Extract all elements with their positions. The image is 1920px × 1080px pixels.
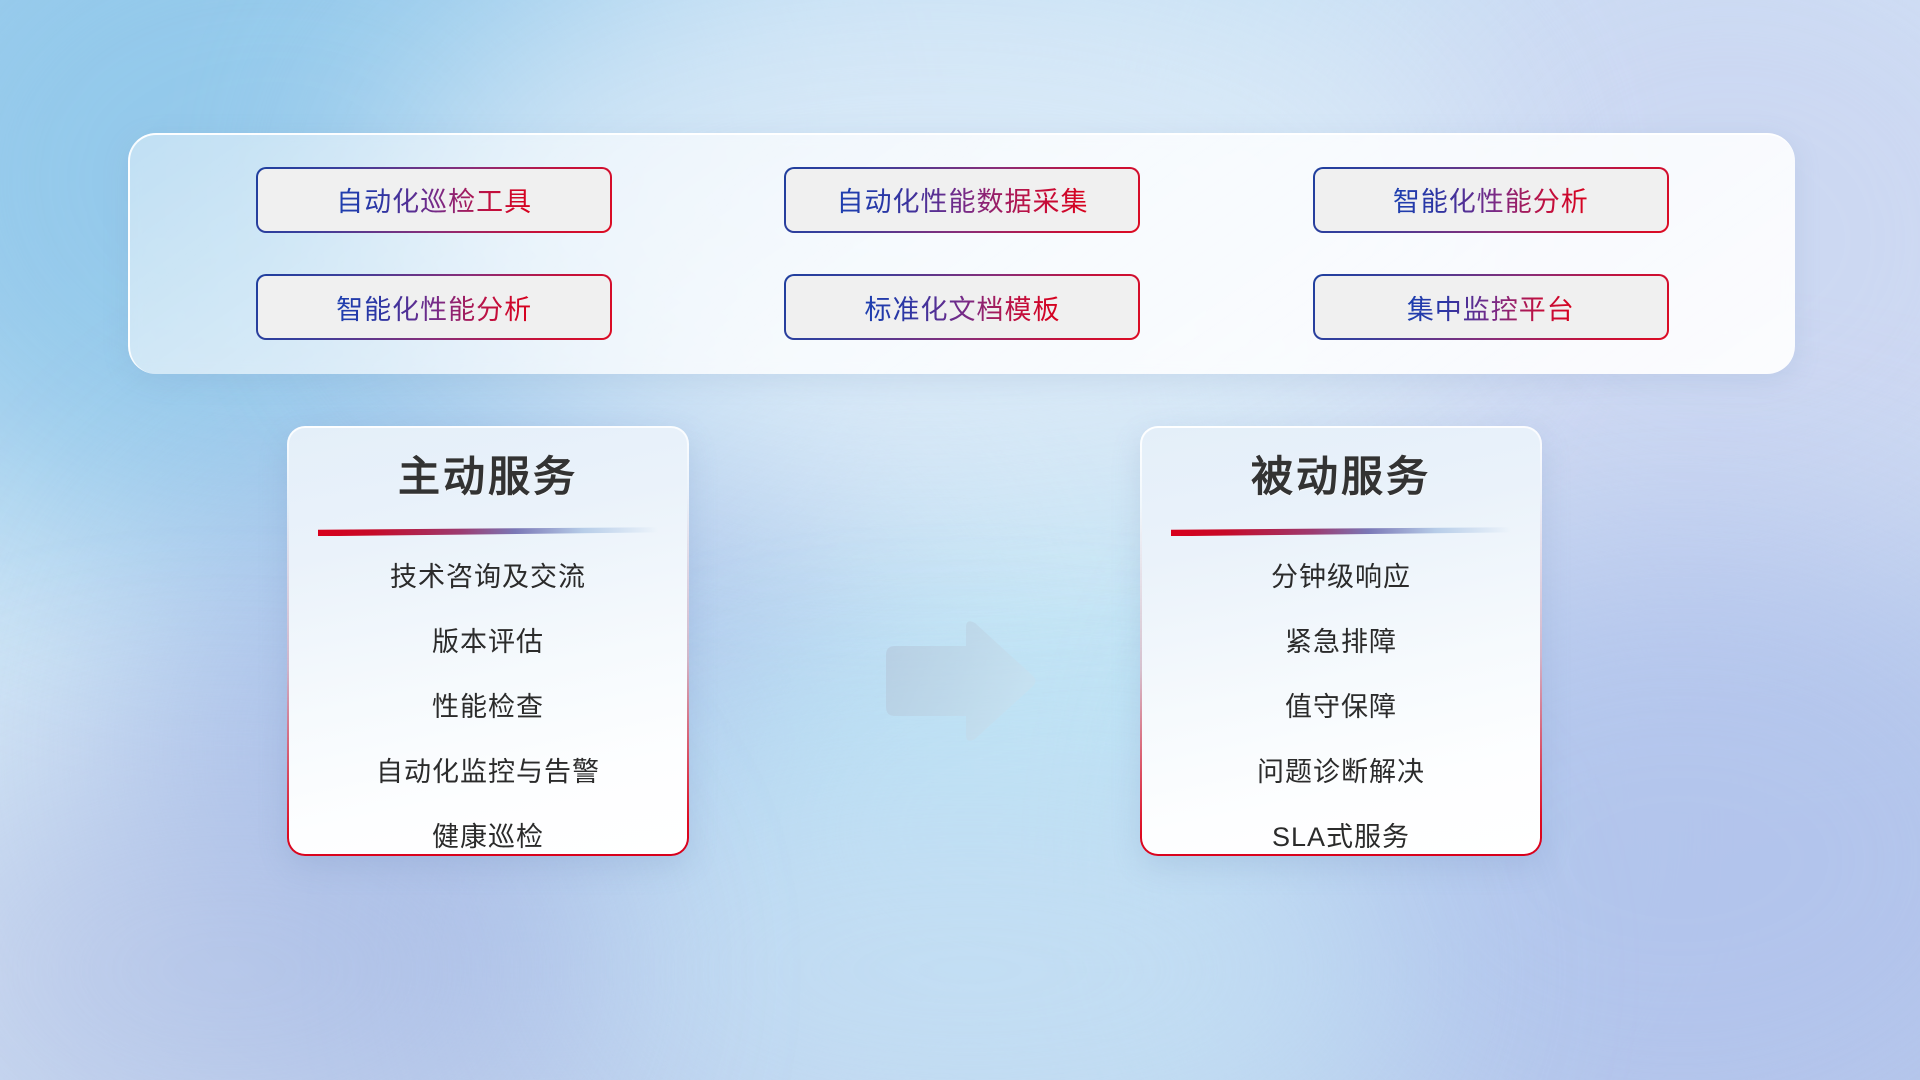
capability-pill-inner: 自动化巡检工具 — [258, 169, 610, 231]
service-card-body: 主动服务 技术咨询及交流 版本评估 性能检查 自动化监控与告警 健康巡检 — [289, 428, 687, 854]
capability-pill-6[interactable]: 集中监控平台 — [1313, 274, 1669, 340]
capability-pill-label: 自动化巡检工具 — [336, 180, 532, 219]
capability-grid: 自动化巡检工具 自动化性能数据采集 智能化性能分析 智能化性能分析 — [130, 135, 1795, 374]
capability-pill-label: 自动化性能数据采集 — [836, 180, 1088, 219]
capability-pill-label: 智能化性能分析 — [336, 288, 532, 327]
service-card-passive: 被动服务 分钟级响应 紧急排障 值守保障 问题诊断解决 SLA式服务 — [1140, 426, 1542, 856]
capability-pill-2[interactable]: 自动化性能数据采集 — [784, 167, 1140, 233]
capability-pill-1[interactable]: 自动化巡检工具 — [256, 167, 612, 233]
capability-pill-label: 标准化文档模板 — [864, 288, 1060, 327]
capability-pill-label: 智能化性能分析 — [1393, 180, 1589, 219]
title-divider-bar — [318, 527, 658, 536]
capability-pill-inner: 智能化性能分析 — [1315, 169, 1667, 231]
service-card-title: 主动服务 — [398, 454, 578, 500]
list-item: 值守保障 — [1285, 685, 1397, 724]
capability-pill-inner: 集中监控平台 — [1315, 276, 1667, 338]
service-card-active: 主动服务 技术咨询及交流 版本评估 性能检查 自动化监控与告警 健康巡检 — [287, 426, 689, 856]
list-item: 性能检查 — [432, 685, 544, 724]
capability-pill-4[interactable]: 智能化性能分析 — [256, 274, 612, 340]
list-item: 技术咨询及交流 — [390, 555, 586, 594]
title-divider — [1171, 524, 1511, 525]
capability-pill-5[interactable]: 标准化文档模板 — [784, 274, 1140, 340]
slide-canvas: 自动化巡检工具 自动化性能数据采集 智能化性能分析 智能化性能分析 — [0, 0, 1920, 1080]
list-item: 紧急排障 — [1285, 620, 1397, 659]
service-card-title: 被动服务 — [1251, 454, 1431, 500]
capability-pill-label: 集中监控平台 — [1407, 288, 1575, 327]
title-divider-bar — [1171, 527, 1511, 536]
service-card-body: 被动服务 分钟级响应 紧急排障 值守保障 问题诊断解决 SLA式服务 — [1142, 428, 1540, 854]
list-item: 分钟级响应 — [1271, 555, 1411, 594]
capability-pill-inner: 自动化性能数据采集 — [786, 169, 1138, 231]
service-item-list: 分钟级响应 紧急排障 值守保障 问题诊断解决 SLA式服务 — [1142, 555, 1540, 854]
capability-pill-3[interactable]: 智能化性能分析 — [1313, 167, 1669, 233]
capability-pill-inner: 智能化性能分析 — [258, 276, 610, 338]
title-divider — [318, 524, 658, 525]
arrow-right-icon — [880, 618, 1038, 744]
list-item: SLA式服务 — [1272, 815, 1410, 854]
capability-panel: 自动化巡检工具 自动化性能数据采集 智能化性能分析 智能化性能分析 — [128, 133, 1795, 374]
service-item-list: 技术咨询及交流 版本评估 性能检查 自动化监控与告警 健康巡检 — [289, 555, 687, 854]
list-item: 健康巡检 — [432, 815, 544, 854]
list-item: 版本评估 — [432, 620, 544, 659]
capability-pill-inner: 标准化文档模板 — [786, 276, 1138, 338]
list-item: 自动化监控与告警 — [376, 750, 600, 789]
list-item: 问题诊断解决 — [1257, 750, 1425, 789]
